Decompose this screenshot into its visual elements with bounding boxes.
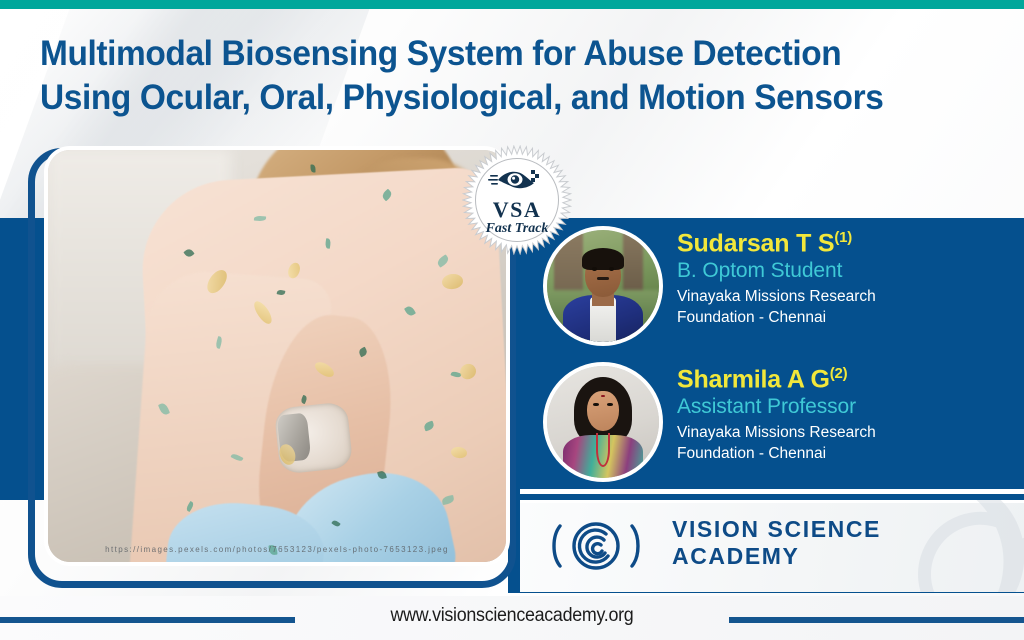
seal-title: VSA xyxy=(462,197,572,223)
vision-science-academy-spiral-eye-icon xyxy=(548,516,644,576)
author-1-affiliation-marker: (1) xyxy=(834,229,852,246)
author-1-affiliation: Vinayaka Missions Research Foundation - … xyxy=(677,287,1024,329)
author-1-role: B. Optom Student xyxy=(677,258,1024,284)
footer-website-url[interactable]: www.visionscienceacademy.org xyxy=(31,605,994,627)
top-accent-bar xyxy=(0,0,1024,9)
page-title: Multimodal Biosensing System for Abuse D… xyxy=(40,32,976,120)
avatar-1-hair xyxy=(582,248,625,270)
logo-wordmark: VISION SCIENCE ACADEMY xyxy=(672,516,881,570)
avatar-1-tree-2 xyxy=(623,230,643,299)
author-2-name: Sharmila A G(2) xyxy=(677,366,1024,393)
biosensor-arm-photo: https://images.pexels.com/photos/7653123… xyxy=(48,150,506,562)
author-2-role: Assistant Professor xyxy=(677,394,1024,420)
footer: www.visionscienceacademy.org xyxy=(0,596,1024,640)
author-1-name: Sudarsan T S(1) xyxy=(677,230,1024,257)
author-2-affiliation-marker: (2) xyxy=(830,365,848,382)
avatar-1-eye-right xyxy=(609,267,615,271)
photo-leaf-motif xyxy=(325,238,331,249)
photo-leaf-motif xyxy=(311,165,316,173)
author-1-details: Sudarsan T S(1) B. Optom Student Vinayak… xyxy=(677,230,1024,329)
author-2-details: Sharmila A G(2) Assistant Professor Vina… xyxy=(677,366,1024,465)
author-2-avatar xyxy=(547,366,659,478)
footer-rule-right xyxy=(729,617,1024,623)
photo-caption: https://images.pexels.com/photos/7653123… xyxy=(48,545,506,554)
avatar-2-eye-left xyxy=(593,403,599,406)
poster-canvas: Multimodal Biosensing System for Abuse D… xyxy=(0,0,1024,640)
panel-divider xyxy=(520,489,1024,494)
author-1-name-text: Sudarsan T S xyxy=(677,229,834,257)
avatar-2-lanyard xyxy=(596,433,609,467)
avatar-1-moustache xyxy=(597,277,608,280)
logo-strip: VISION SCIENCE ACADEMY xyxy=(520,500,1024,592)
author-1-avatar xyxy=(547,230,659,342)
author-2-affiliation: Vinayaka Missions Research Foundation - … xyxy=(677,423,1024,465)
author-2-name-text: Sharmila A G xyxy=(677,365,830,393)
avatar-1-eye-left xyxy=(592,267,598,271)
